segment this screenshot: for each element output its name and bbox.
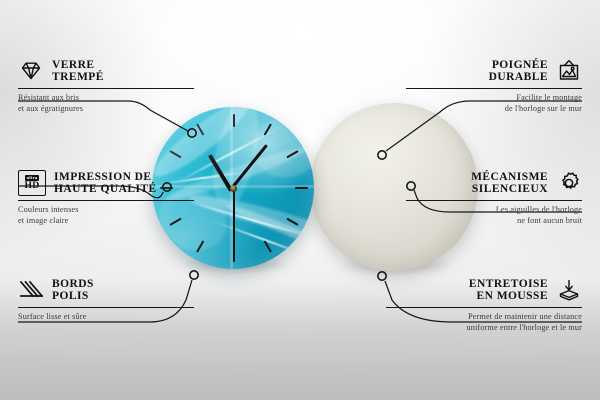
callout-title: BORDSPOLIS: [52, 278, 94, 303]
callout-description: Couleurs intenseset image claire: [18, 205, 194, 225]
infographic-canvas: VERRETREMPÉ Résistant aux briset aux égr…: [0, 0, 600, 400]
diamond-icon: [18, 58, 44, 84]
callout-rule: [18, 88, 194, 89]
callout-description: Facilite le montagede l'horloge sur le m…: [406, 93, 582, 113]
callout-rule: [386, 307, 582, 308]
callout-rule: [18, 307, 194, 308]
callout-impression-hd: ultra HD IMPRESSION DEHAUTE QUALITÉ Coul…: [18, 170, 194, 226]
ultra-hd-large-label: HD: [25, 181, 40, 191]
callout-description: Permet de maintenir une distanceuniforme…: [386, 312, 582, 332]
callout-header: BORDSPOLIS: [18, 277, 194, 303]
callout-description: Les aiguilles de l'horlogene font aucun …: [406, 205, 582, 225]
polished-edges-icon: [18, 277, 44, 303]
callout-rule: [18, 200, 194, 201]
callout-description: Surface lisse et sûre: [18, 312, 194, 322]
callout-title: VERRETREMPÉ: [52, 59, 104, 84]
callout-mecanisme-silencieux: MÉCANISMESILENCIEUX Les aiguilles de l'h…: [406, 170, 582, 226]
picture-frame-hanger-icon: [556, 58, 582, 84]
callout-header: POIGNÉEDURABLE: [406, 58, 582, 84]
callout-title: IMPRESSION DEHAUTE QUALITÉ: [54, 171, 157, 196]
callout-entretoise-mousse: ENTRETOISEEN MOUSSE Permet de maintenir …: [386, 277, 582, 333]
foam-spacer-arrow-icon: [556, 277, 582, 303]
callout-poignee-durable: POIGNÉEDURABLE Facilite le montagede l'h…: [406, 58, 582, 114]
callout-title: POIGNÉEDURABLE: [489, 59, 548, 84]
gear-icon: [556, 170, 582, 196]
callout-header: ultra HD IMPRESSION DEHAUTE QUALITÉ: [18, 170, 194, 196]
callout-header: ENTRETOISEEN MOUSSE: [386, 277, 582, 303]
callout-title: ENTRETOISEEN MOUSSE: [469, 278, 548, 303]
callout-title: MÉCANISMESILENCIEUX: [471, 171, 548, 196]
callout-description: Résistant aux briset aux égratignures: [18, 93, 194, 113]
callout-bords-polis: BORDSPOLIS Surface lisse et sûre: [18, 277, 194, 323]
callout-rule: [406, 88, 582, 89]
callout-header: VERRETREMPÉ: [18, 58, 194, 84]
callout-header: MÉCANISMESILENCIEUX: [406, 170, 582, 196]
callout-rule: [406, 200, 582, 201]
ultra-hd-icon: ultra HD: [18, 170, 46, 196]
callout-verre-trempe: VERRETREMPÉ Résistant aux briset aux égr…: [18, 58, 194, 114]
